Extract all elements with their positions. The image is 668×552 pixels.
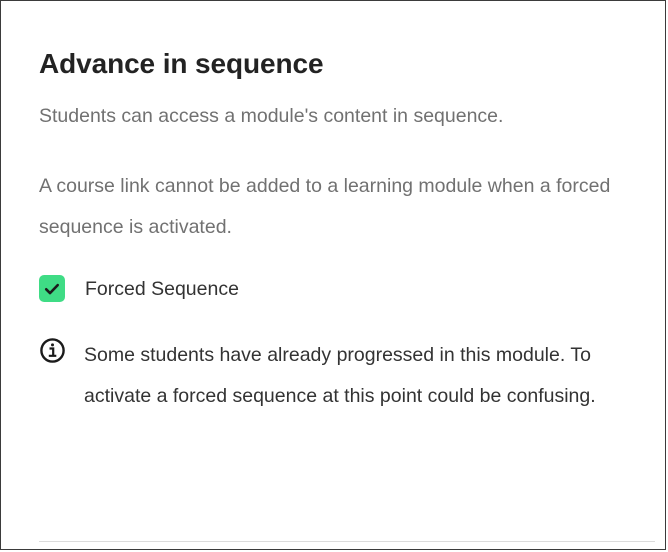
page-title: Advance in sequence [39, 1, 627, 82]
info-circle-icon [39, 337, 66, 364]
panel-description-secondary: A course link cannot be added to a learn… [39, 166, 627, 248]
advance-in-sequence-panel: Advance in sequence Students can access … [0, 0, 666, 550]
panel-content: Advance in sequence Students can access … [1, 1, 665, 417]
panel-bottom-divider [39, 541, 655, 542]
panel-description-primary: Students can access a module's content i… [39, 96, 627, 137]
forced-sequence-checkbox[interactable] [39, 275, 65, 302]
forced-sequence-checkbox-row[interactable]: Forced Sequence [39, 275, 627, 302]
notice-message: Some students have already progressed in… [84, 335, 627, 417]
check-icon [43, 280, 61, 298]
forced-sequence-notice: Some students have already progressed in… [39, 335, 627, 417]
forced-sequence-label: Forced Sequence [85, 276, 239, 302]
